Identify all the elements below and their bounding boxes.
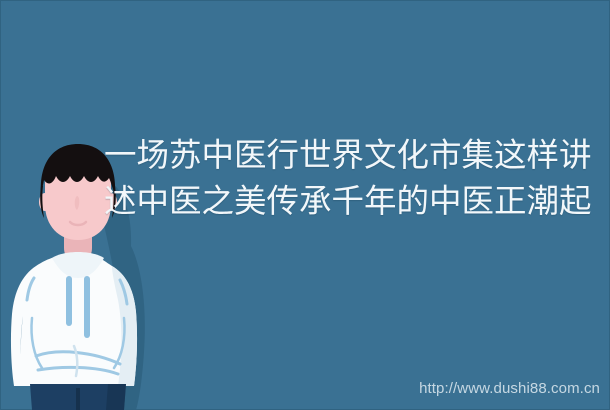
headline-line-2: 述中医之美传承千年的中医正潮起 [104, 178, 590, 224]
headline-line-1: 一场苏中医行世界文化市集这样讲 [104, 132, 590, 178]
pants-seam-shape [76, 388, 80, 410]
headline: 一场苏中医行世界文化市集这样讲 述中医之美传承千年的中医正潮起 [104, 132, 590, 224]
pants-shade-shape [106, 384, 126, 410]
site-watermark-url: http://www.dushi88.com.cn [419, 380, 600, 397]
drawstring-right-shape [84, 276, 90, 338]
drawstring-left-shape [66, 276, 72, 326]
article-thumbnail-poster: 一场苏中医行世界文化市集这样讲 述中医之美传承千年的中医正潮起 http://w… [0, 0, 610, 410]
